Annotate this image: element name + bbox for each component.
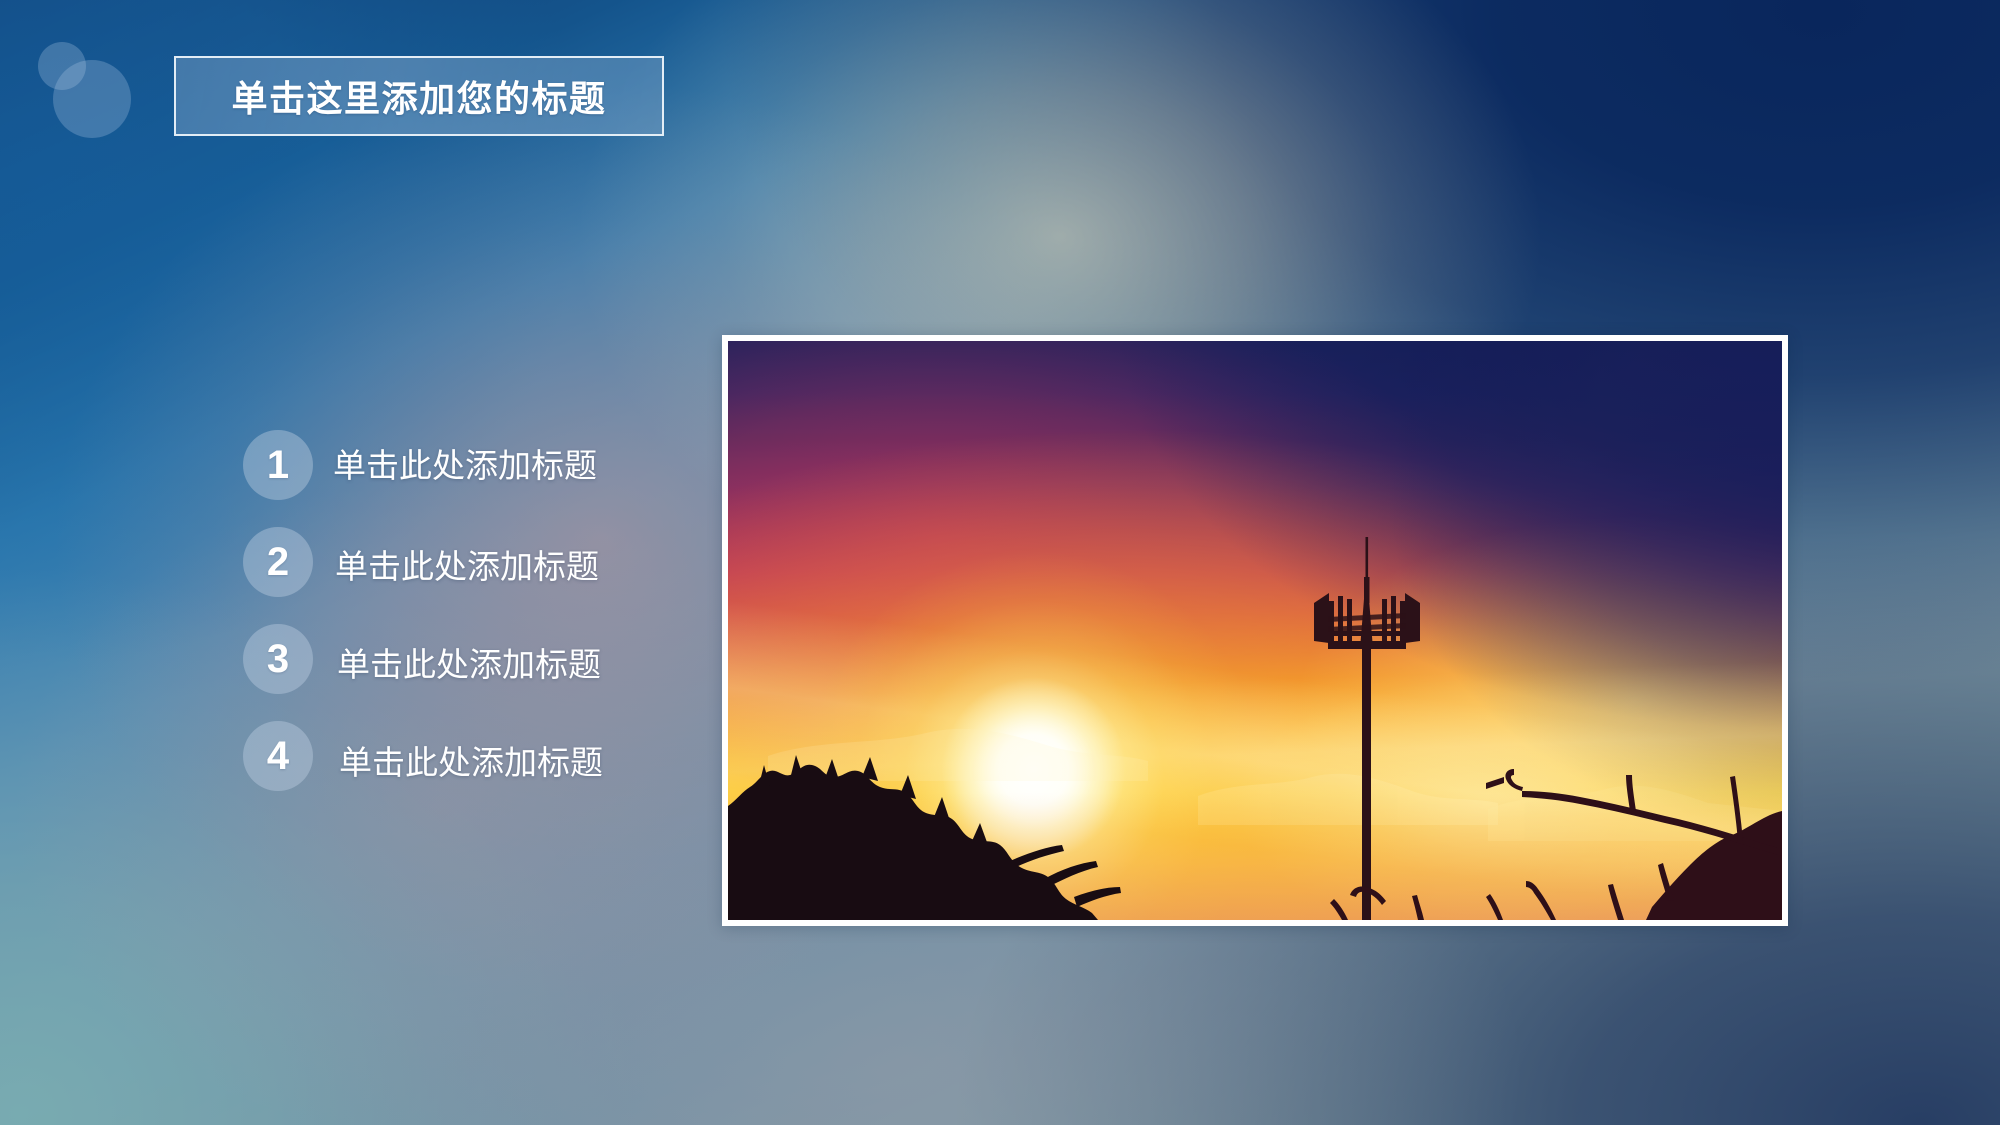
presentation-slide: 单击这里添加您的标题 1 单击此处添加标题 2 单击此处添加标题 3 单击此处添… [0, 0, 2000, 1125]
photo-frame[interactable] [722, 335, 1788, 926]
bullet-label-2: 单击此处添加标题 [335, 540, 599, 588]
bullet-label-3: 单击此处添加标题 [337, 638, 601, 686]
slide-title-box[interactable]: 单击这里添加您的标题 [174, 56, 664, 136]
bullet-number-badge-4: 4 [243, 721, 313, 791]
slide-title-text: 单击这里添加您的标题 [231, 70, 606, 122]
silhouette-svg [728, 341, 1782, 920]
bullet-label-4: 单击此处添加标题 [339, 736, 603, 784]
sunset-photo [728, 341, 1782, 920]
bullet-item-1[interactable]: 1 单击此处添加标题 [243, 430, 713, 500]
bullet-item-4[interactable]: 4 单击此处添加标题 [243, 721, 713, 791]
bullet-item-3[interactable]: 3 单击此处添加标题 [243, 624, 713, 694]
bullet-number-badge-1: 1 [243, 430, 313, 500]
decor-circle-large-icon [53, 60, 131, 138]
cell-tower-silhouette [1314, 537, 1420, 920]
bullet-item-2[interactable]: 2 单击此处添加标题 [243, 527, 713, 597]
photo-silhouettes [728, 341, 1782, 920]
bullet-number-badge-2: 2 [243, 527, 313, 597]
bullet-number-badge-3: 3 [243, 624, 313, 694]
bullet-label-1: 单击此处添加标题 [333, 439, 597, 487]
numbered-bullet-list: 1 单击此处添加标题 2 单击此处添加标题 3 单击此处添加标题 4 单击此处添… [243, 430, 713, 818]
